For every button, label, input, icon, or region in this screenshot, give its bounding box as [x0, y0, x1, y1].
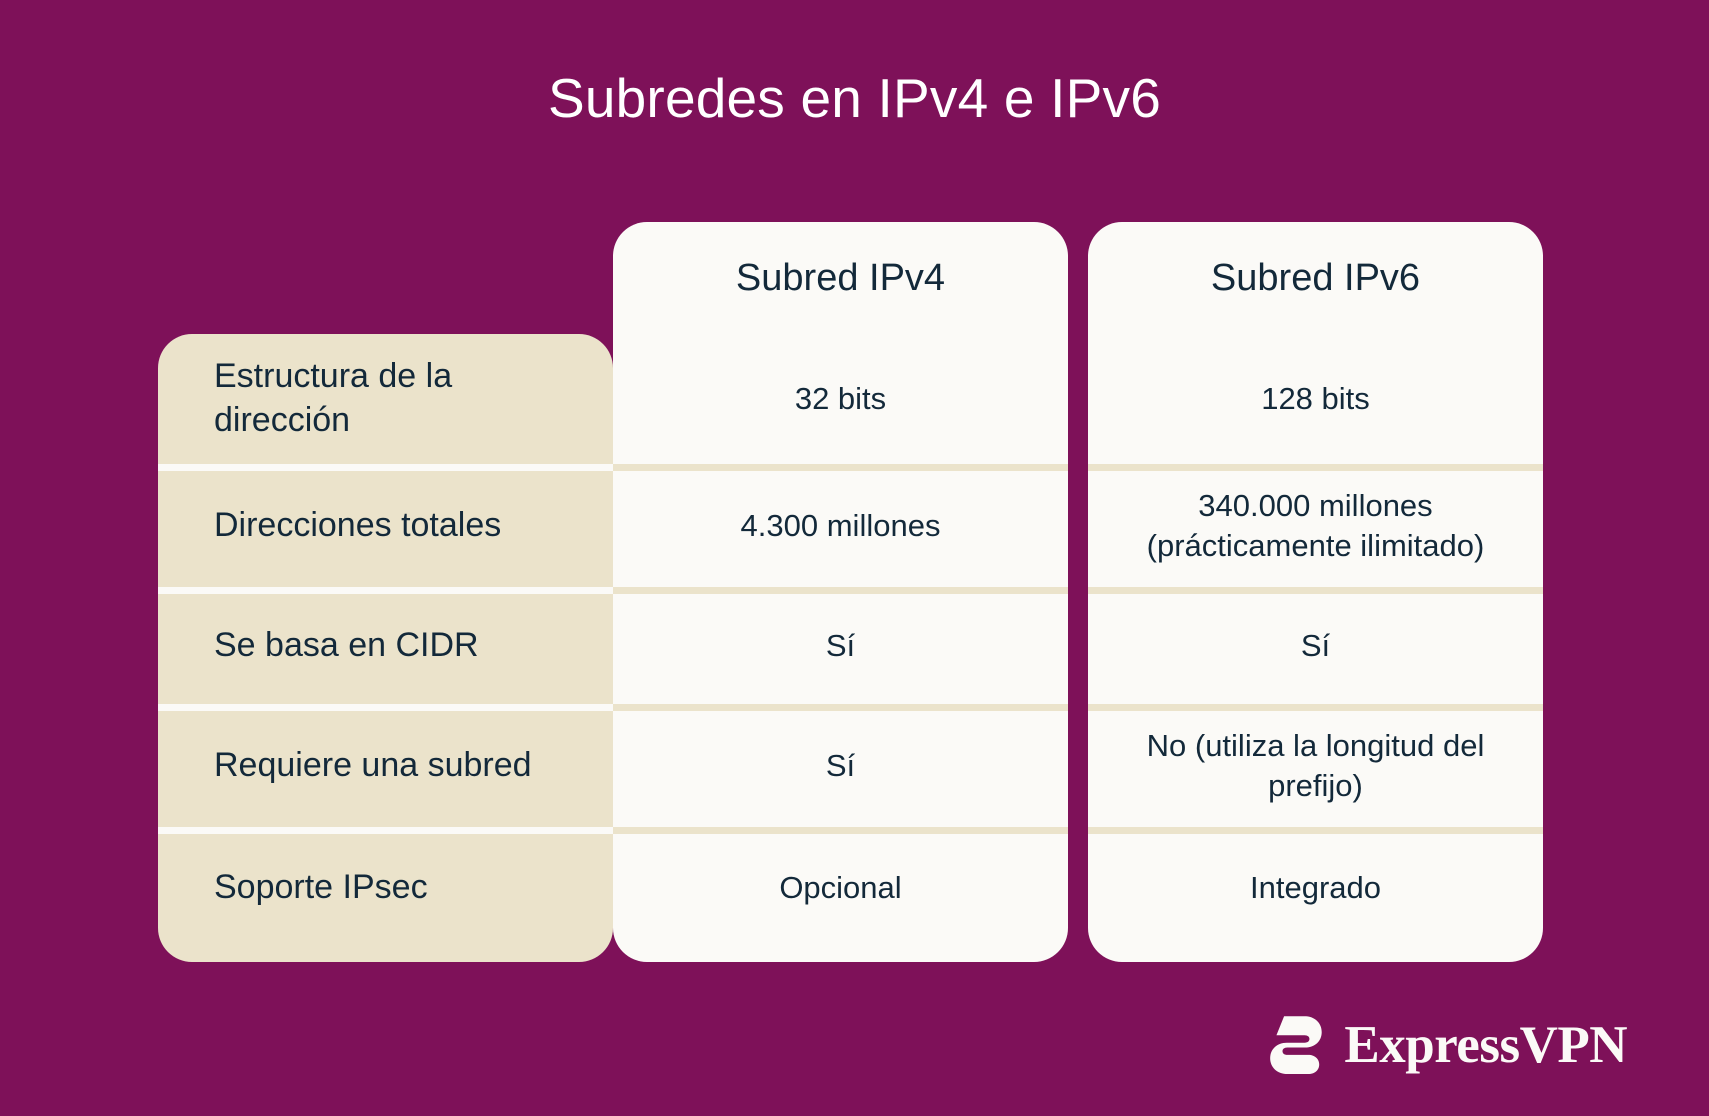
cell-ipv6: Sí [1088, 587, 1543, 704]
cell-ipv6: Integrado [1088, 827, 1543, 948]
cell-ipv6: 128 bits [1088, 334, 1543, 464]
table-row: Direcciones totales 4.300 millones 340.0… [158, 464, 1558, 587]
cell-ipv4: 4.300 millones [613, 464, 1068, 587]
table-header-ipv4: Subred IPv4 [613, 222, 1068, 334]
cell-ipv4: Sí [613, 704, 1068, 827]
page-title: Subredes en IPv4 e IPv6 [0, 68, 1709, 129]
table-row: Estructura de la dirección 32 bits 128 b… [158, 334, 1558, 464]
cell-ipv6: 340.000 millones (prácticamente ilimitad… [1088, 464, 1543, 587]
row-label: Estructura de la dirección [158, 334, 613, 464]
cell-ipv4: Opcional [613, 827, 1068, 948]
cell-ipv4: Sí [613, 587, 1068, 704]
table-header-row: Subred IPv4 Subred IPv6 [158, 222, 1558, 334]
row-label: Direcciones totales [158, 464, 613, 587]
table-row: Se basa en CIDR Sí Sí [158, 587, 1558, 704]
table-header-ipv6: Subred IPv6 [1088, 222, 1543, 334]
expressvpn-e-icon [1260, 1012, 1326, 1078]
table-row: Soporte IPsec Opcional Integrado [158, 827, 1558, 948]
row-label: Se basa en CIDR [158, 587, 613, 704]
expressvpn-logo: ExpressVPN [1260, 1012, 1627, 1078]
table-body: Estructura de la dirección 32 bits 128 b… [158, 334, 1558, 962]
row-label: Soporte IPsec [158, 827, 613, 948]
cell-ipv4: 32 bits [613, 334, 1068, 464]
cell-ipv6: No (utiliza la longitud del prefijo) [1088, 704, 1543, 827]
table-row: Requiere una subred Sí No (utiliza la lo… [158, 704, 1558, 827]
row-label: Requiere una subred [158, 704, 613, 827]
comparison-table: Subred IPv4 Subred IPv6 Estructura de la… [158, 222, 1558, 962]
expressvpn-wordmark: ExpressVPN [1344, 1019, 1627, 1072]
